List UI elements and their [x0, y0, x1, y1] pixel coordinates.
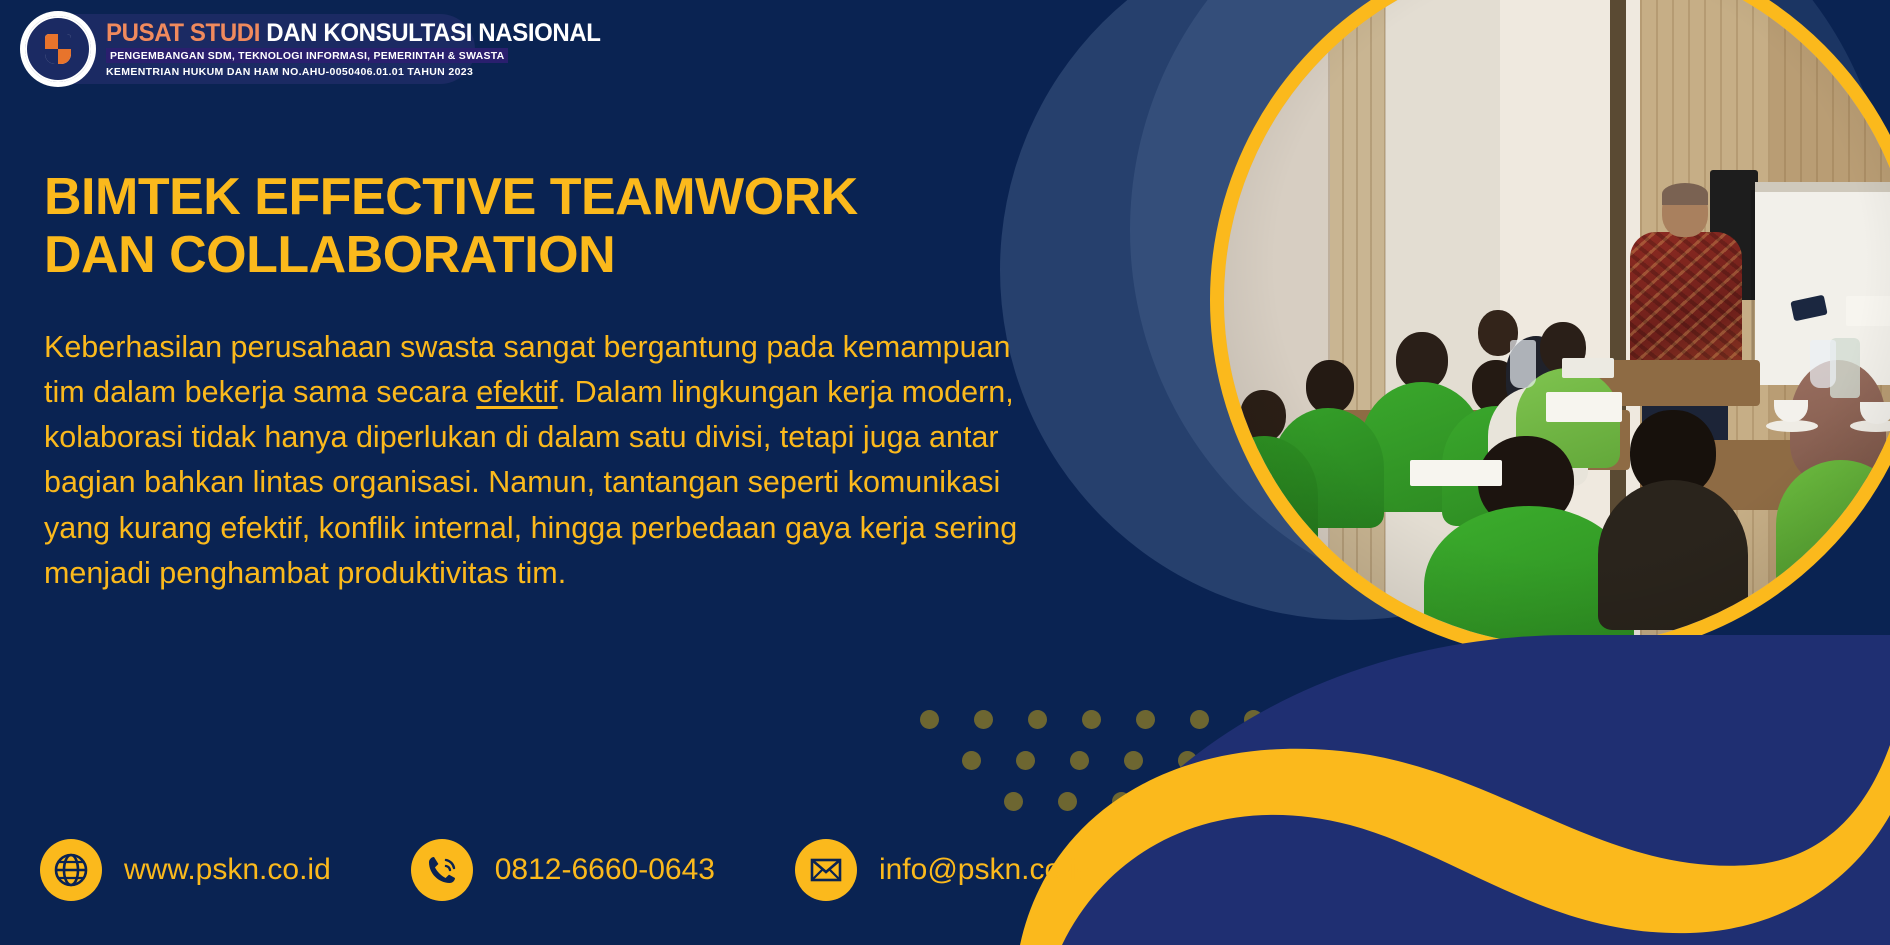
body-emphasis-efektif: efektif — [476, 375, 557, 409]
email-value: info@pskn.co.id — [879, 853, 1093, 887]
pskn-emblem-icon — [20, 11, 96, 87]
logo-title: PUSAT STUDI DAN KONSULTASI NASIONAL — [106, 21, 471, 46]
headline-line-2: DAN COLLABORATION — [44, 226, 615, 284]
contact-website[interactable]: www.pskn.co.id — [40, 839, 331, 901]
phone-icon — [411, 839, 473, 901]
page-title: BIMTEK EFFECTIVE TEAMWORK DAN COLLABORAT… — [44, 168, 984, 284]
contact-footer: www.pskn.co.id 0812-6660-0643 info@p — [40, 839, 1093, 901]
contact-phone[interactable]: 0812-6660-0643 — [411, 839, 715, 901]
gold-swoosh-decoration — [990, 685, 1890, 945]
training-photo — [1210, 0, 1890, 660]
shield-book-icon — [45, 34, 71, 64]
logo-title-part2: DAN KONSULTASI NASIONAL — [266, 19, 600, 47]
logo-subtitle-legal: KEMENTRIAN HUKUM DAN HAM NO.AHU-0050406.… — [106, 66, 486, 78]
poster-canvas: PUSAT STUDI DAN KONSULTASI NASIONAL PENG… — [0, 0, 1890, 945]
brand-logo: PUSAT STUDI DAN KONSULTASI NASIONAL PENG… — [20, 10, 475, 88]
logo-title-part1: PUSAT STUDI — [106, 19, 260, 47]
globe-icon — [40, 839, 102, 901]
headline-line-1: BIMTEK EFFECTIVE TEAMWORK — [44, 168, 858, 226]
website-value: www.pskn.co.id — [124, 853, 331, 887]
body-paragraph: Keberhasilan perusahaan swasta sangat be… — [44, 325, 1024, 596]
phone-value: 0812-6660-0643 — [495, 853, 715, 887]
training-photo-circle — [1210, 0, 1890, 660]
contact-email[interactable]: info@pskn.co.id — [795, 839, 1093, 901]
logo-subtitle-services: PENGEMBANGAN SDM, TEKNOLOGI INFORMASI, P… — [106, 48, 508, 63]
envelope-icon — [795, 839, 857, 901]
